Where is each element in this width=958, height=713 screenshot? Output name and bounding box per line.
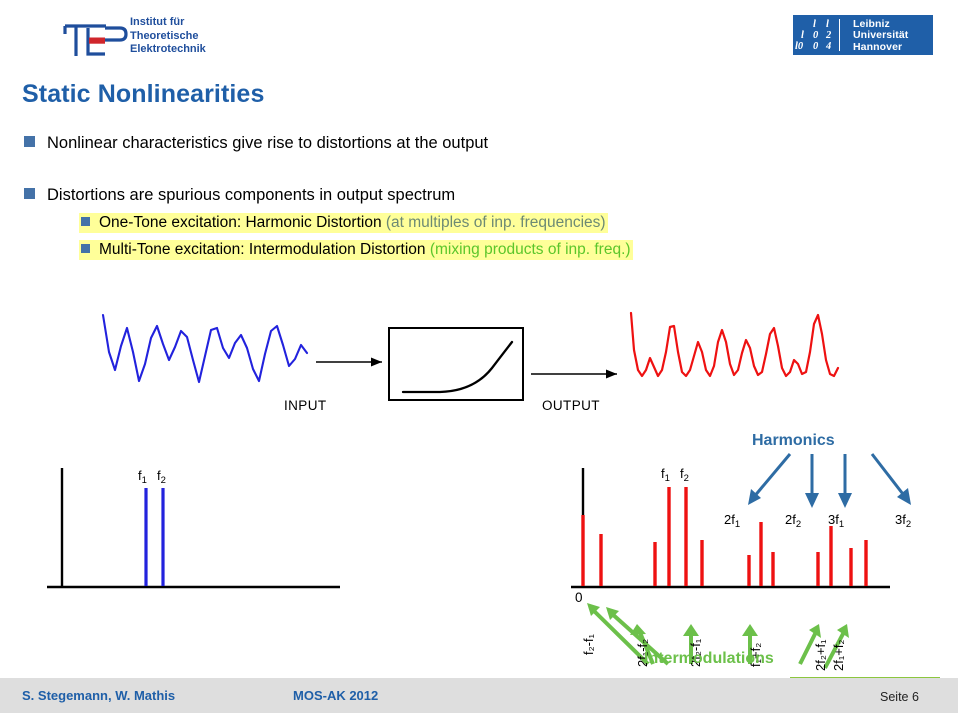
figure-block-diagram-and-spectra: INPUT OUTPUT f1 f2 f1 f2 2f1 2f2 3f1 3f2 bbox=[0, 290, 958, 670]
harmonics-arrowheads bbox=[748, 488, 911, 508]
input-tone-label-f1: f1 bbox=[138, 468, 147, 486]
harmonic-label-3f1: 3f1 bbox=[828, 512, 844, 530]
luh-logo-text: Leibniz Universität Hannover bbox=[845, 15, 908, 55]
luh-line-3: Hannover bbox=[853, 42, 908, 53]
page-title: Static Nonlinearities bbox=[22, 80, 264, 109]
input-arrowhead-icon bbox=[371, 358, 382, 367]
tet-logo-text: Institut für Theoretische Elektrotechnik bbox=[130, 16, 206, 57]
bullet-item-2: Distortions are spurious components in o… bbox=[24, 186, 455, 205]
tet-line-3: Elektrotechnik bbox=[130, 43, 206, 57]
footer-page-number: Seite 6 bbox=[880, 690, 919, 704]
sub-bullet-square-icon bbox=[81, 244, 90, 253]
sub-bullet-item-1: One-Tone excitation: Harmonic Distortion… bbox=[79, 213, 608, 233]
axis-label-f2-f1: f₂-f₁ bbox=[581, 634, 596, 655]
output-tone-label-f2: f2 bbox=[680, 466, 689, 484]
harmonic-label-2f2: 2f2 bbox=[785, 512, 801, 530]
sub-bullet-square-icon bbox=[81, 217, 90, 226]
output-label: OUTPUT bbox=[542, 398, 600, 413]
bullet-text-2: Distortions are spurious components in o… bbox=[47, 186, 455, 204]
harmonics-arrows bbox=[753, 454, 906, 498]
slide: Institut für Theoretische Elektrotechnik… bbox=[0, 0, 958, 713]
bullet-text-1: Nonlinear characteristics give rise to d… bbox=[47, 134, 488, 152]
input-spectrum-axes bbox=[47, 468, 340, 588]
intermodulations-label: Intermodulations bbox=[644, 650, 774, 668]
axis-label-2f2+f1: 2f₂+f₁ bbox=[813, 640, 828, 671]
harmonics-label: Harmonics bbox=[752, 432, 835, 450]
tet-logo-icon: Institut für Theoretische Elektrotechnik bbox=[58, 14, 248, 64]
footer-event: MOS-AK 2012 bbox=[293, 688, 378, 703]
output-tone-label-f1: f1 bbox=[661, 466, 670, 484]
footer-authors: S. Stegemann, W. Mathis bbox=[22, 688, 175, 703]
input-label: INPUT bbox=[284, 398, 327, 413]
bullet-square-icon bbox=[24, 188, 35, 199]
axis-label-2f1+f2: 2f₁+f₂ bbox=[831, 640, 846, 671]
sub-bullet-item-2: Multi-Tone excitation: Intermodulation D… bbox=[79, 240, 633, 260]
tet-line-1: Institut für bbox=[130, 16, 206, 30]
harmonic-label-2f1: 2f1 bbox=[724, 512, 740, 530]
sub-bullet-paren-1: (at multiples of inp. frequencies) bbox=[386, 214, 606, 231]
output-arrowhead-icon bbox=[606, 370, 617, 379]
bullet-item-1: Nonlinear characteristics give rise to d… bbox=[24, 134, 488, 153]
intermodulation-arrowheads bbox=[587, 603, 849, 638]
axis-label-0: 0 bbox=[575, 590, 583, 605]
input-tone-label-f2: f2 bbox=[157, 468, 166, 486]
output-waveform bbox=[631, 313, 838, 376]
bullet-square-icon bbox=[24, 136, 35, 147]
input-spectrum-lines bbox=[146, 488, 163, 586]
harmonic-label-3f2: 3f2 bbox=[895, 512, 911, 530]
luh-binary-digits: l l l 0 2 l0 0 4 bbox=[793, 15, 845, 55]
output-spectrum-lines bbox=[583, 487, 866, 586]
sub-bullet-paren-2: (mixing products of inp. freq.) bbox=[430, 241, 631, 258]
sub-bullet-text-1: One-Tone excitation: Harmonic Distortion bbox=[99, 214, 386, 231]
tet-line-2: Theoretische bbox=[130, 30, 206, 44]
leibniz-universitaet-hannover-logo-icon: l l l 0 2 l0 0 4 Leibniz Universität Han… bbox=[793, 15, 933, 55]
input-waveform bbox=[103, 315, 307, 382]
sub-bullet-text-2: Multi-Tone excitation: Intermodulation D… bbox=[99, 241, 430, 258]
